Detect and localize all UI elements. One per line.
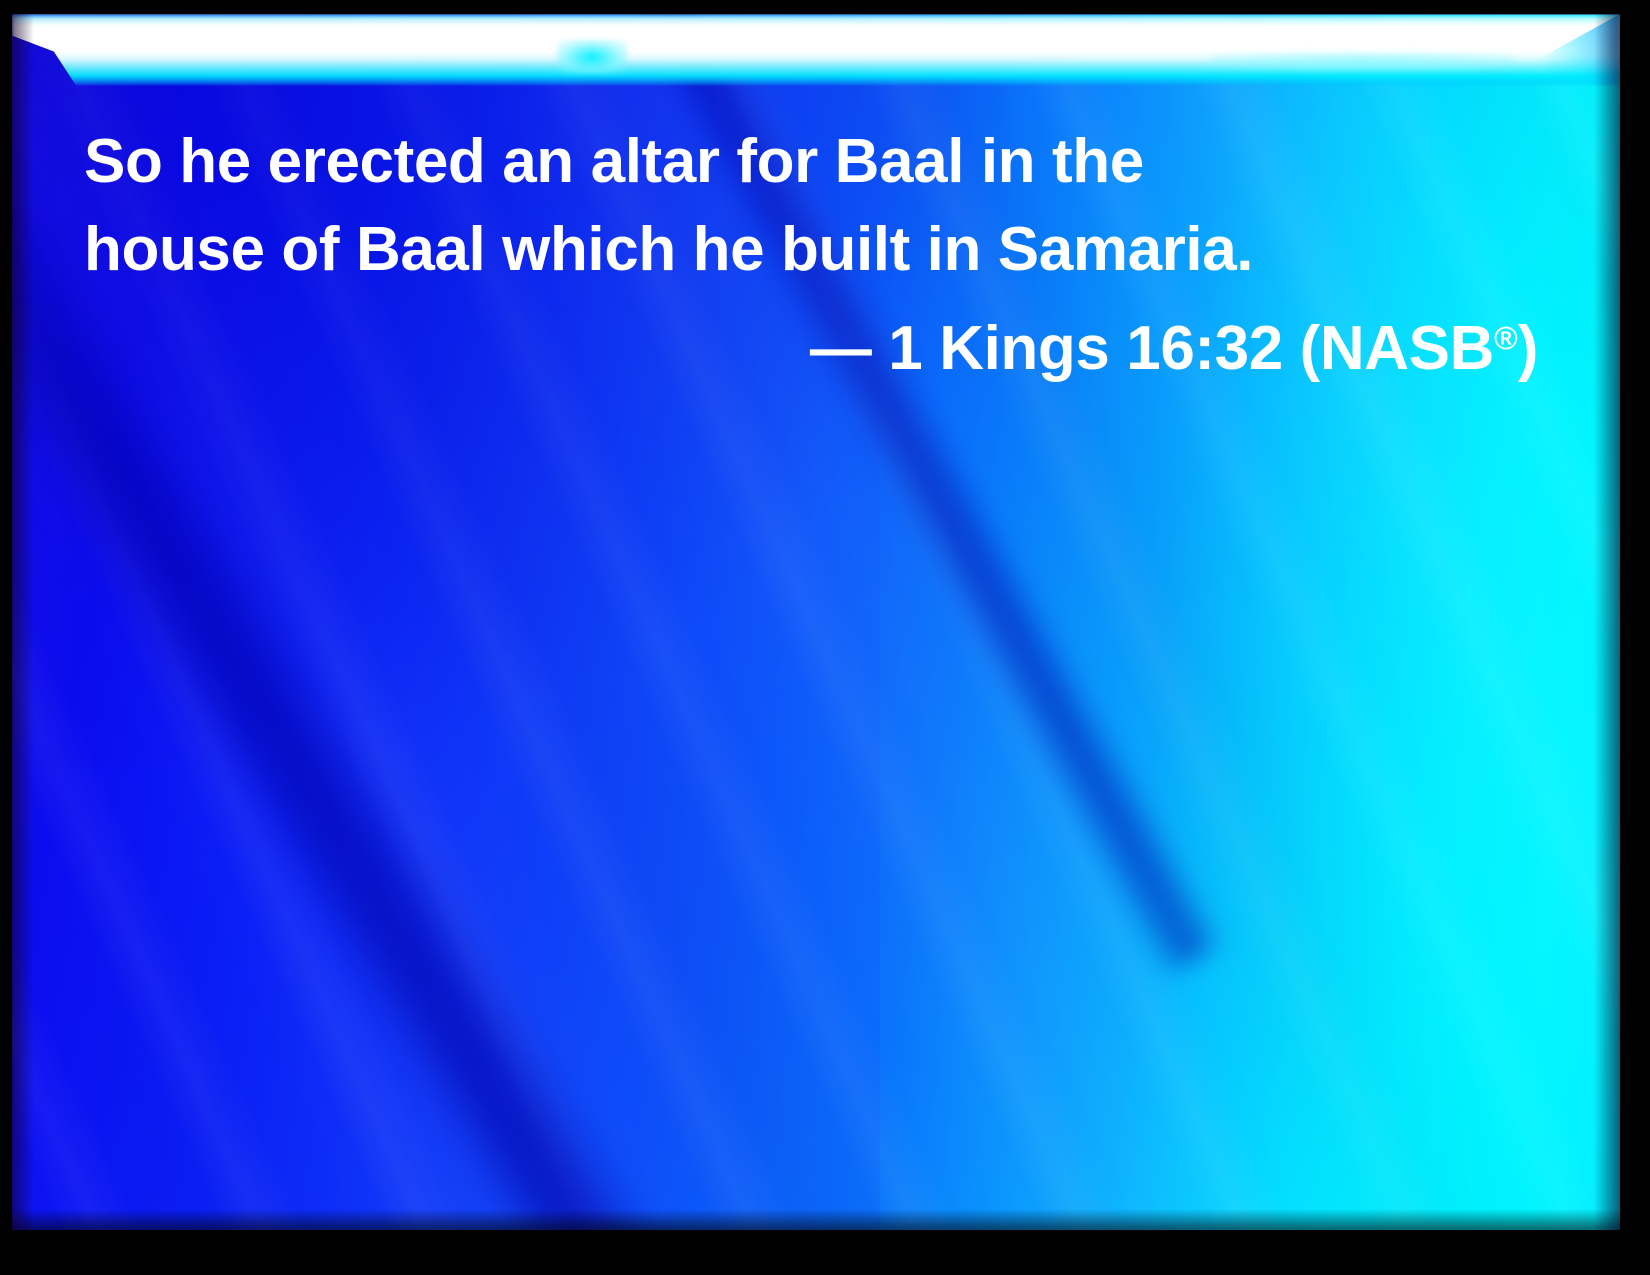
- verse-text-block: So he erected an altar for Baal in the h…: [84, 118, 1544, 393]
- top-glow-band-cyan-blob: [557, 40, 627, 74]
- verse-line-1: So he erected an altar for Baal in the: [84, 118, 1544, 206]
- citation-dash: —: [810, 314, 872, 383]
- citation-version-open: (NASB: [1300, 314, 1494, 383]
- citation-reference: 1 Kings 16:32: [888, 314, 1283, 383]
- top-glow-band-fill: [12, 14, 1620, 86]
- verse-slide: So he erected an altar for Baal in the h…: [0, 0, 1650, 1275]
- citation-version-close: ): [1518, 314, 1538, 383]
- top-glow-band: [12, 14, 1620, 100]
- verse-citation: — 1 Kings 16:32 (NASB®): [84, 294, 1544, 393]
- verse-line-2: house of Baal which he built in Samaria.: [84, 206, 1544, 294]
- registered-trademark-icon: ®: [1494, 320, 1518, 356]
- top-glow-band-cyan-smear: [1212, 52, 1512, 70]
